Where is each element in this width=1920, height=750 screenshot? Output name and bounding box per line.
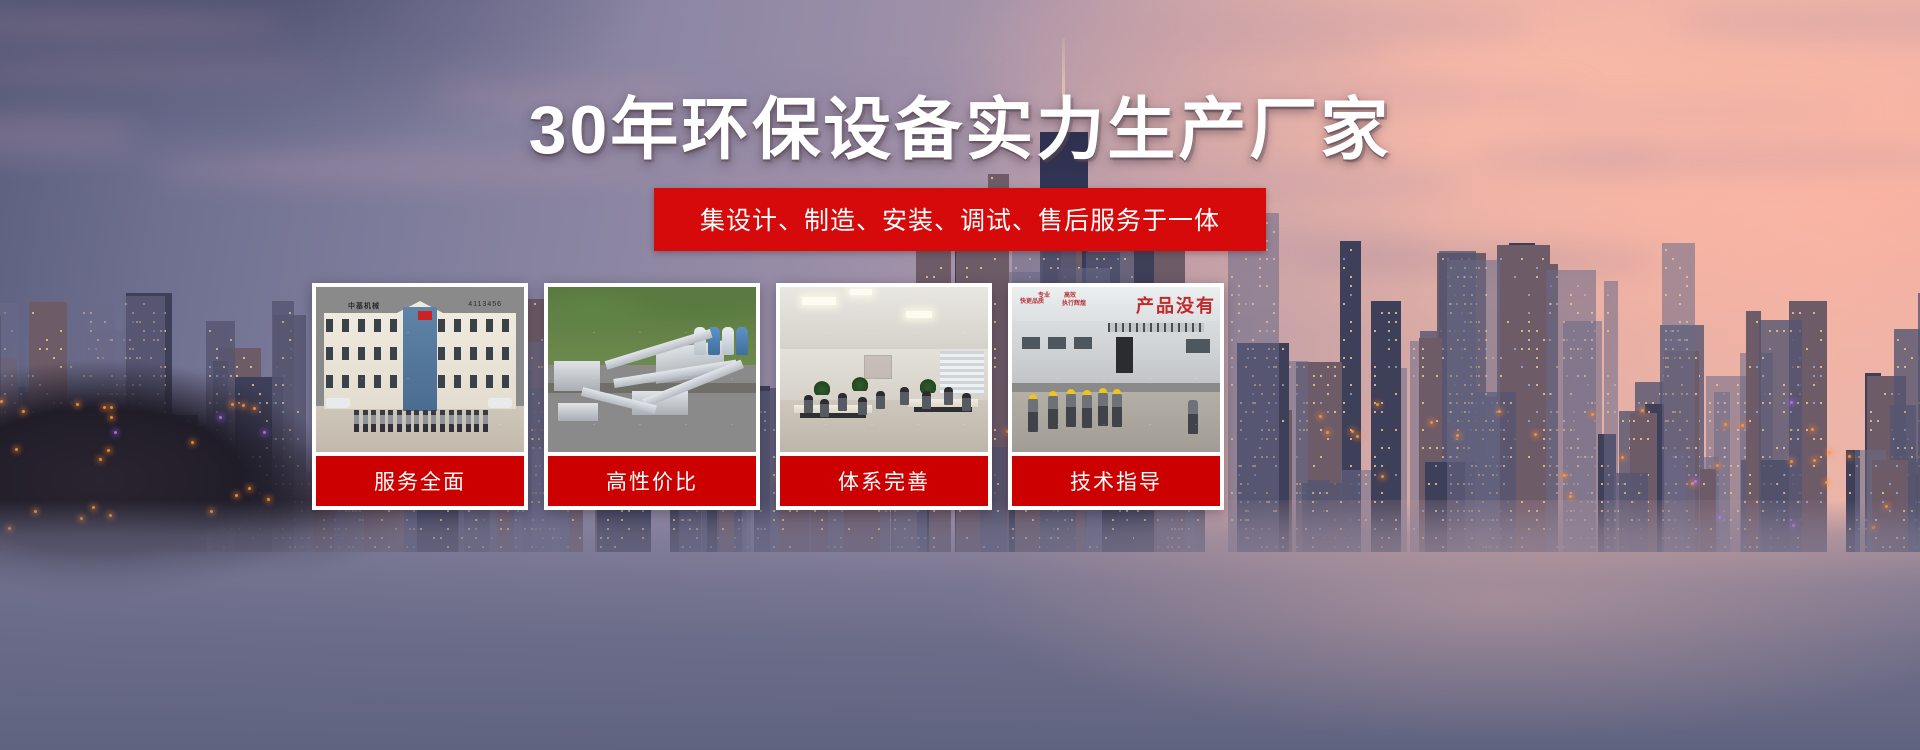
- street-light: [1621, 456, 1624, 459]
- staff-member: [371, 410, 376, 432]
- building-window: [486, 319, 493, 332]
- feature-card-list: 中基机械 4113456 服务全面: [312, 283, 1224, 510]
- factory-worker: [1188, 400, 1198, 434]
- building-window: [486, 347, 493, 360]
- street-light: [191, 441, 194, 444]
- subtitle-ribbon: 集设计、制造、安装、调试、售后服务于一体: [654, 188, 1266, 251]
- street-light: [114, 431, 117, 434]
- staff-member: [406, 410, 411, 432]
- street-light: [110, 416, 113, 419]
- building-window: [454, 319, 461, 332]
- card-caption: 服务全面: [316, 456, 524, 506]
- card-caption: 体系完善: [780, 456, 988, 506]
- potted-plant: [852, 377, 868, 391]
- factory-window: [1022, 337, 1040, 349]
- staff-member: [397, 410, 402, 432]
- office-employee: [876, 391, 885, 409]
- building-window: [438, 319, 445, 332]
- street-light: [248, 487, 251, 490]
- hero-banner: 30年环保设备实力生产厂家 集设计、制造、安装、调试、售后服务于一体 中基机械 …: [0, 0, 1920, 750]
- street-light: [235, 494, 238, 497]
- factory-door: [1116, 337, 1133, 373]
- card-caption: 高性价比: [548, 456, 756, 506]
- building-window: [358, 375, 365, 388]
- building-window: [438, 347, 445, 360]
- street-light: [1534, 433, 1537, 436]
- wall-poster: [864, 355, 892, 379]
- office-employee: [820, 399, 829, 417]
- street-light: [263, 431, 266, 434]
- building-window: [374, 347, 381, 360]
- silo: [736, 327, 748, 355]
- building-sign-text: 中基机械: [348, 301, 380, 311]
- staff-member: [449, 410, 454, 432]
- office-employee: [858, 397, 867, 415]
- factory-window: [1074, 337, 1092, 349]
- building-window: [390, 347, 397, 360]
- building-window: [342, 347, 349, 360]
- street-light: [1376, 403, 1379, 406]
- factory-slogan: 高效: [1064, 293, 1076, 300]
- street-light: [1724, 423, 1727, 426]
- plant-building: [558, 403, 598, 421]
- street-light: [1828, 451, 1831, 454]
- building-phone-text: 4113456: [468, 301, 502, 308]
- ceiling-light: [906, 311, 932, 318]
- street-light: [1694, 480, 1697, 483]
- building-window: [454, 347, 461, 360]
- office-employee: [922, 391, 931, 409]
- building-window: [470, 319, 477, 332]
- building-window: [486, 375, 493, 388]
- building-window: [438, 375, 445, 388]
- street-light: [1569, 495, 1572, 498]
- hard-hat-icon: [1113, 389, 1121, 394]
- staff-member: [414, 410, 419, 432]
- factory-slogan: 专业: [1038, 293, 1050, 300]
- staff-member: [363, 410, 368, 432]
- street-light: [0, 400, 3, 403]
- hard-hat-icon: [1083, 390, 1091, 395]
- office-employee: [838, 393, 847, 411]
- building-window: [502, 375, 509, 388]
- street-light: [1319, 415, 1322, 418]
- hard-hat-icon: [1049, 391, 1057, 396]
- street-light: [22, 410, 25, 413]
- building-window: [470, 375, 477, 388]
- factory-worker: [1066, 393, 1076, 427]
- feature-card[interactable]: 中基机械 4113456 服务全面: [312, 283, 528, 510]
- feature-card[interactable]: 产品没有 快更品质 专业 高效 执行辉煌 技术指导: [1008, 283, 1224, 510]
- factory-slogan-left: 快更品质: [1020, 299, 1044, 306]
- street-light: [1811, 428, 1814, 431]
- staff-member: [457, 410, 462, 432]
- ceiling-light: [802, 297, 836, 305]
- street-light: [1790, 460, 1793, 463]
- factory-worker: [1048, 395, 1058, 429]
- silo: [722, 327, 734, 355]
- factory-worker: [1112, 393, 1122, 427]
- street-light: [1741, 424, 1744, 427]
- office-employee: [804, 395, 813, 413]
- card-photo-factory-workers: 产品没有 快更品质 专业 高效 执行辉煌: [1012, 287, 1220, 452]
- factory-window: [1048, 337, 1066, 349]
- building-window: [326, 375, 333, 388]
- street-light: [1381, 475, 1384, 478]
- building-window: [470, 347, 477, 360]
- street-light: [219, 416, 222, 419]
- feature-card[interactable]: 高性价比: [544, 283, 760, 510]
- street-light: [1498, 410, 1501, 413]
- street-light: [99, 458, 102, 461]
- desk-leg: [800, 413, 866, 418]
- street-light: [1825, 481, 1828, 484]
- hard-hat-icon: [1029, 394, 1037, 399]
- card-photo-office-interior: [780, 287, 988, 452]
- street-light: [1430, 421, 1433, 424]
- street-light: [1813, 459, 1816, 462]
- card-caption: 技术指导: [1012, 456, 1220, 506]
- staff-member: [388, 410, 393, 432]
- photo-ground: [316, 406, 524, 452]
- hard-hat-icon: [1099, 388, 1107, 393]
- feature-card[interactable]: 体系完善: [776, 283, 992, 510]
- factory-worker: [1028, 398, 1038, 432]
- factory-window: [1186, 339, 1210, 353]
- building-window: [374, 319, 381, 332]
- street-light: [1356, 435, 1359, 438]
- staff-member: [466, 410, 471, 432]
- street-light: [107, 449, 110, 452]
- building-window: [358, 319, 365, 332]
- building-window: [326, 319, 333, 332]
- street-light: [1326, 431, 1329, 434]
- street-light: [1641, 409, 1644, 412]
- staff-member: [423, 410, 428, 432]
- staff-member: [440, 410, 445, 432]
- ceiling-light: [850, 289, 872, 295]
- street-light: [1591, 413, 1594, 416]
- staff-member: [354, 410, 359, 432]
- building-window: [358, 347, 365, 360]
- street-light: [76, 403, 79, 406]
- subtitle-ribbon-wrapper: 集设计、制造、安装、调试、售后服务于一体: [0, 188, 1920, 251]
- building-window: [374, 375, 381, 388]
- building-window: [390, 319, 397, 332]
- building-window: [502, 319, 509, 332]
- hard-hat-icon: [1067, 389, 1075, 394]
- office-employee: [900, 387, 909, 405]
- staff-member: [431, 410, 436, 432]
- factory-vent: [1108, 323, 1204, 332]
- street-light: [1563, 474, 1566, 477]
- office-employee: [962, 393, 971, 411]
- parked-car: [488, 398, 512, 408]
- street-light: [15, 448, 18, 451]
- parked-car: [326, 398, 350, 408]
- street-light: [1716, 464, 1719, 467]
- plant-building: [554, 361, 600, 391]
- flag-icon: [418, 311, 432, 320]
- street-light: [242, 404, 245, 407]
- factory-slogan: 执行辉煌: [1062, 301, 1086, 308]
- office-employee: [944, 387, 953, 405]
- building-window: [502, 347, 509, 360]
- building-window: [342, 375, 349, 388]
- water-reflection: [0, 500, 1920, 750]
- street-light: [1790, 401, 1793, 404]
- card-photo-aerial-plant: [548, 287, 756, 452]
- street-light: [1456, 434, 1459, 437]
- staff-member: [380, 410, 385, 432]
- street-light: [1351, 430, 1354, 433]
- potted-plant: [814, 381, 830, 395]
- building-window: [342, 319, 349, 332]
- staff-member: [474, 410, 479, 432]
- street-light: [1848, 455, 1851, 458]
- building-window: [390, 375, 397, 388]
- street-light: [103, 406, 106, 409]
- building-window: [454, 375, 461, 388]
- building-glass-centre: [403, 307, 437, 411]
- factory-worker: [1098, 392, 1108, 426]
- factory-worker: [1082, 394, 1092, 428]
- factory-big-slogan: 产品没有: [1136, 292, 1216, 318]
- page-title: 30年环保设备实力生产厂家: [0, 96, 1920, 164]
- street-light: [253, 407, 256, 410]
- building-window: [326, 347, 333, 360]
- staff-member: [483, 410, 488, 432]
- street-light: [110, 406, 113, 409]
- street-light: [231, 403, 234, 406]
- card-photo-company-building: 中基机械 4113456: [316, 287, 524, 452]
